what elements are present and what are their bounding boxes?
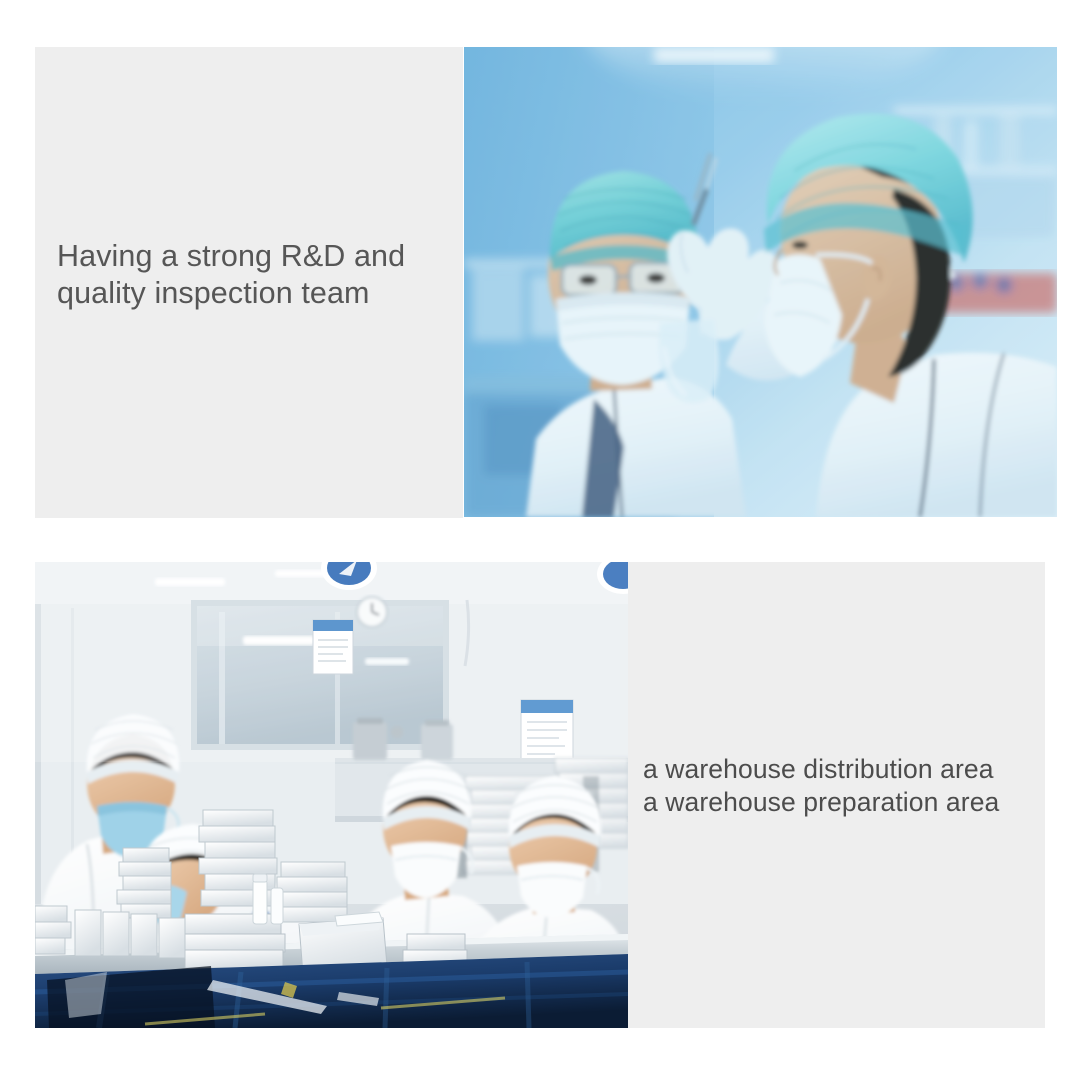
showcase-page: Having a strong R&D and quality inspecti…	[0, 0, 1080, 1080]
section-rnd-quality: Having a strong R&D and quality inspecti…	[0, 0, 1080, 535]
caption-rnd-quality: Having a strong R&D and quality inspecti…	[57, 238, 457, 312]
photo-warehouse-packing	[35, 562, 628, 1028]
warehouse-packing-illustration	[35, 562, 628, 1028]
section-warehouse: a warehouse distribution area a warehous…	[0, 535, 1080, 1080]
caption-warehouse: a warehouse distribution area a warehous…	[643, 753, 1053, 819]
photo-lab-inspection	[464, 47, 1057, 517]
lab-inspection-illustration	[464, 47, 1057, 517]
